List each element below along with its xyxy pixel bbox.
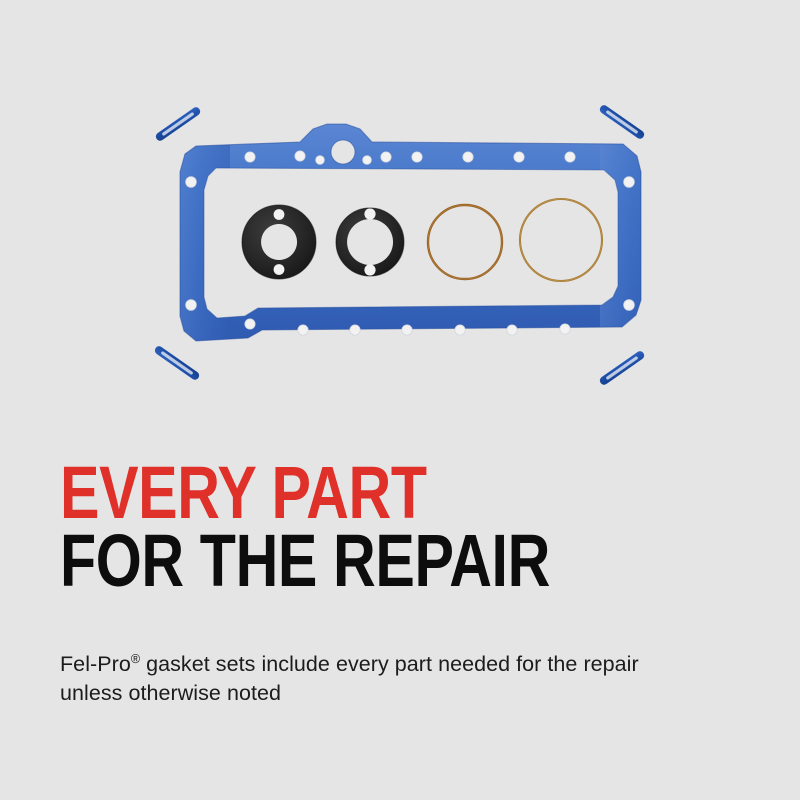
promo-page: EVERY PART FOR THE REPAIR Fel-Pro® gaske… bbox=[0, 0, 800, 800]
corner-seal-strip-bottom-right bbox=[598, 350, 645, 387]
gasket-set-illustration bbox=[0, 0, 800, 450]
subcopy-rest: gasket sets include every part needed fo… bbox=[60, 652, 639, 705]
headline-line-1: EVERY PART bbox=[60, 462, 620, 524]
copy-block: EVERY PART FOR THE REPAIR Fel-Pro® gaske… bbox=[60, 462, 760, 592]
headline-line-2: FOR THE REPAIR bbox=[60, 530, 620, 592]
registered-trademark-icon: ® bbox=[131, 652, 140, 666]
subcopy-text: Fel-Pro® gasket sets include every part … bbox=[60, 650, 700, 708]
product-image bbox=[0, 0, 800, 450]
subcopy-brand: Fel-Pro bbox=[60, 652, 131, 676]
